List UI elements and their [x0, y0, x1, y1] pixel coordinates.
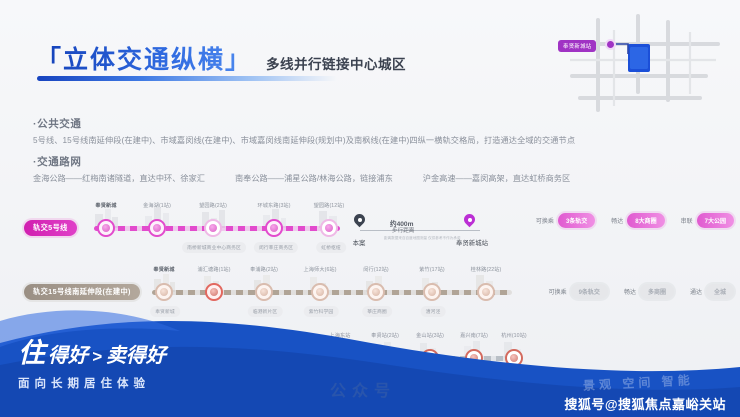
station-marker[interactable] — [148, 219, 166, 237]
stat-key: 畅达 — [611, 216, 623, 225]
stat-item: 串联 7大公园 — [681, 213, 734, 228]
station-label: 奉浦路(2站) — [250, 266, 278, 273]
title-underline — [37, 76, 337, 81]
slide-page: 「立体交通纵横」 多线并行链接中心城区 ·公共交通 5号线、15号线南延伸段(在… — [0, 0, 740, 417]
promo-block: 住 得好 > 卖得好 面向长期居住体验 — [18, 331, 166, 391]
map-roads — [550, 14, 730, 118]
station-marker[interactable] — [205, 283, 223, 301]
transit-line-5: 轨交5号线 奉贤新城 金海湖(1站) 望园路(2站) 环城东路(3站) 望园路(… — [24, 200, 344, 254]
stat-value: 8大商圈 — [627, 213, 664, 228]
station-marker[interactable] — [320, 219, 338, 237]
stat-value: 全城 — [706, 284, 734, 299]
walk-distance-label: 步行距离 — [392, 226, 414, 234]
stat-value: 多商圈 — [640, 284, 674, 299]
station-label: 闵行(12站) — [363, 266, 389, 273]
stat-item: 可换乘 3条轨交 — [536, 213, 595, 228]
stat-key: 可换乘 — [536, 216, 554, 225]
station-marker[interactable] — [97, 219, 115, 237]
station-marker[interactable] — [423, 283, 441, 301]
stat-value: 7大公园 — [697, 213, 734, 228]
stat-item: 畅达 多商圈 — [624, 284, 674, 299]
page-header: 「立体交通纵横」 多线并行链接中心城区 — [36, 40, 406, 76]
footer-source: 搜狐号@搜狐焦点嘉峪关站 — [564, 394, 726, 413]
road-item: 南奉公路——浦星公路/林海公路，链接浦东 — [235, 172, 393, 184]
station-label: 望园路(2站) — [199, 202, 227, 209]
walk-to-label: 奉贤新城站 — [456, 238, 488, 247]
watermark-brand: 公众号 — [330, 377, 396, 401]
page-title: 「立体交通纵横」 — [36, 40, 252, 76]
copy-heading-roads: ·交通路网 — [33, 154, 733, 169]
station-marker[interactable] — [367, 283, 385, 301]
road-item: 沪金高速——嘉闵高架，直达虹桥商务区 — [423, 172, 570, 184]
walk-distance-block: 约400m 步行距离 距离数据来自百度地图测量 仅供参考不作为承诺 本案 奉贤新… — [346, 208, 511, 252]
station-marker[interactable] — [204, 219, 222, 237]
station-chip: 南桥新城商业中心商务区 — [182, 242, 246, 253]
arrow-icon: > — [90, 347, 104, 367]
map-station-chip: 奉贤新城站 — [558, 40, 596, 52]
station-label: 望园路(12站) — [314, 202, 345, 209]
line-5-stats: 可换乘 3条轨交 畅达 8大商圈 串联 7大公园 — [536, 213, 734, 228]
station-marker[interactable] — [311, 283, 329, 301]
station-label: 奉贤新城 — [153, 266, 174, 273]
page-subtitle: 多线并行链接中心城区 — [266, 53, 406, 76]
station-label: 环城东路(3站) — [257, 202, 290, 209]
road-item: 金海公路——红梅南诸隧道，直达中环、徐家汇 — [33, 172, 205, 184]
walk-connector — [360, 230, 480, 231]
metro-station-icon — [605, 39, 616, 50]
copy-text-transit: 5号线、15号线南延伸段(在建中)、市域嘉闵线(在建中)、市域嘉闵线南延伸段(规… — [33, 134, 733, 146]
project-pin-icon — [354, 214, 365, 229]
stat-key: 可换乘 — [549, 287, 567, 296]
station-pin-icon — [464, 214, 475, 229]
stat-key: 串联 — [681, 216, 693, 225]
station-chip: 闵行莘庄商务区 — [254, 242, 298, 253]
line-15-stats: 可换乘 9条轨交 畅达 多商圈 通达 全城 — [549, 284, 734, 299]
station-chip: 虹桥枢纽 — [316, 242, 346, 253]
location-map[interactable]: 奉贤新城站 — [550, 14, 730, 118]
station-label: 奉贤新城 — [95, 202, 116, 209]
promo-word-3: 卖得好 — [106, 339, 166, 368]
stat-key: 通达 — [690, 287, 702, 296]
stat-value: 3条轨交 — [558, 213, 595, 228]
promo-headline: 住 得好 > 卖得好 — [18, 331, 166, 370]
promo-word-2: 得好 — [48, 339, 88, 368]
station-label: 浦汇塘路(1站) — [197, 266, 230, 273]
line-tag-5: 轨交5号线 — [24, 220, 77, 236]
station-label: 金海湖(1站) — [143, 202, 171, 209]
walk-from-label: 本案 — [353, 238, 366, 247]
stat-item: 可换乘 9条轨交 — [549, 284, 608, 299]
stat-item: 畅达 8大商圈 — [611, 213, 664, 228]
promo-word-1: 住 — [18, 331, 46, 370]
copy-heading-transit: ·公共交通 — [33, 116, 733, 131]
station-label: 上海师大(6站) — [303, 266, 336, 273]
stat-key: 畅达 — [624, 287, 636, 296]
station-marker[interactable] — [255, 283, 273, 301]
station-label: 桂林路(22站) — [471, 266, 502, 273]
stat-value: 9条轨交 — [571, 284, 608, 299]
station-marker[interactable] — [265, 219, 283, 237]
road-list: 金海公路——红梅南诸隧道，直达中环、徐家汇 南奉公路——浦星公路/林海公路，链接… — [33, 172, 733, 184]
stat-item: 通达 全城 — [690, 284, 734, 299]
body-copy: ·公共交通 5号线、15号线南延伸段(在建中)、市域嘉闵线(在建中)、市域嘉闵线… — [33, 116, 733, 184]
station-marker[interactable] — [477, 283, 495, 301]
station-label: 紫竹(17站) — [419, 266, 445, 273]
promo-subline: 面向长期居住体验 — [18, 375, 166, 391]
walk-disclaimer: 距离数据来自百度地图测量 仅供参考不作为承诺 — [384, 236, 460, 241]
station-marker[interactable] — [155, 283, 173, 301]
line-tag-15: 轨交15号线南延伸段(在建中) — [24, 284, 140, 300]
